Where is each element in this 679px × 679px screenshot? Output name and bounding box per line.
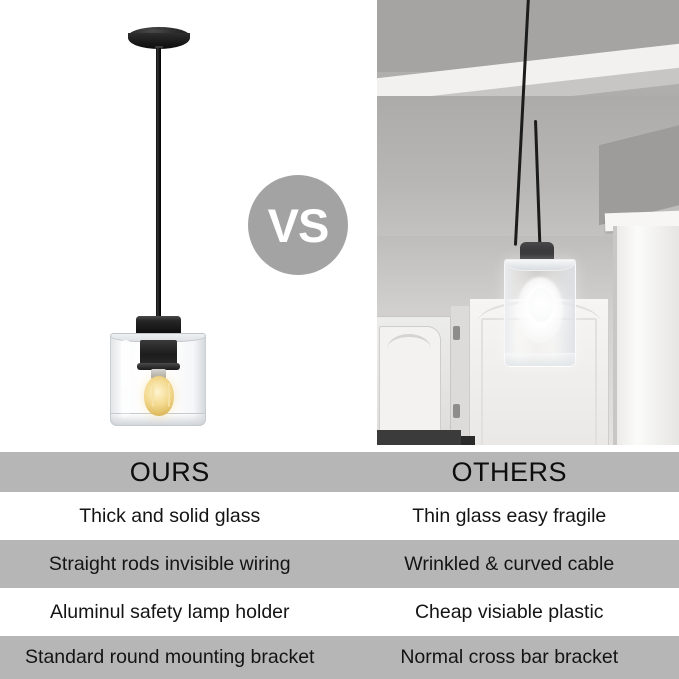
others-feature-1: Thin glass easy fragile bbox=[340, 492, 679, 540]
thin-glass-bottom bbox=[504, 353, 576, 367]
others-feature-3: Cheap visiable plastic bbox=[340, 588, 679, 636]
table-row: Straight rods invisible wiring Wrinkled … bbox=[0, 540, 679, 588]
cabinet-right bbox=[613, 226, 679, 445]
others-product-image bbox=[377, 0, 679, 445]
others-feature-2: Wrinkled & curved cable bbox=[340, 540, 679, 588]
others-feature-4: Normal cross bar bracket bbox=[340, 636, 679, 679]
column-header-ours: OURS bbox=[0, 452, 340, 492]
ours-feature-1: Thick and solid glass bbox=[0, 492, 340, 540]
table-header-row: OURS OTHERS bbox=[0, 452, 679, 492]
appliance-handle bbox=[461, 436, 475, 445]
vs-badge: VS bbox=[248, 175, 348, 275]
appliance-edge bbox=[377, 430, 461, 445]
table-row: Standard round mounting bracket Normal c… bbox=[0, 636, 679, 679]
cabinet-right-edge bbox=[613, 226, 617, 445]
bulb-filament bbox=[152, 383, 170, 407]
ours-feature-4: Standard round mounting bracket bbox=[0, 636, 340, 679]
comparison-infographic: VS bbox=[0, 0, 679, 679]
product-comparison-images: VS bbox=[0, 0, 679, 452]
table-row: Thick and solid glass Thin glass easy fr… bbox=[0, 492, 679, 540]
comparison-table: OURS OTHERS Thick and solid glass Thin g… bbox=[0, 452, 679, 679]
glass-highlight bbox=[121, 340, 130, 418]
ours-feature-3: Aluminul safety lamp holder bbox=[0, 588, 340, 636]
thin-glass-rim bbox=[504, 259, 576, 271]
ours-feature-2: Straight rods invisible wiring bbox=[0, 540, 340, 588]
straight-rod bbox=[156, 48, 161, 320]
table-row: Aluminul safety lamp holder Cheap visiab… bbox=[0, 588, 679, 636]
cabinet-hinge-bottom-icon bbox=[453, 404, 460, 418]
column-header-others: OTHERS bbox=[340, 452, 679, 492]
cabinet-hinge-top-icon bbox=[453, 326, 460, 340]
vs-label: VS bbox=[268, 202, 329, 249]
lit-bulb-icon bbox=[529, 288, 553, 322]
